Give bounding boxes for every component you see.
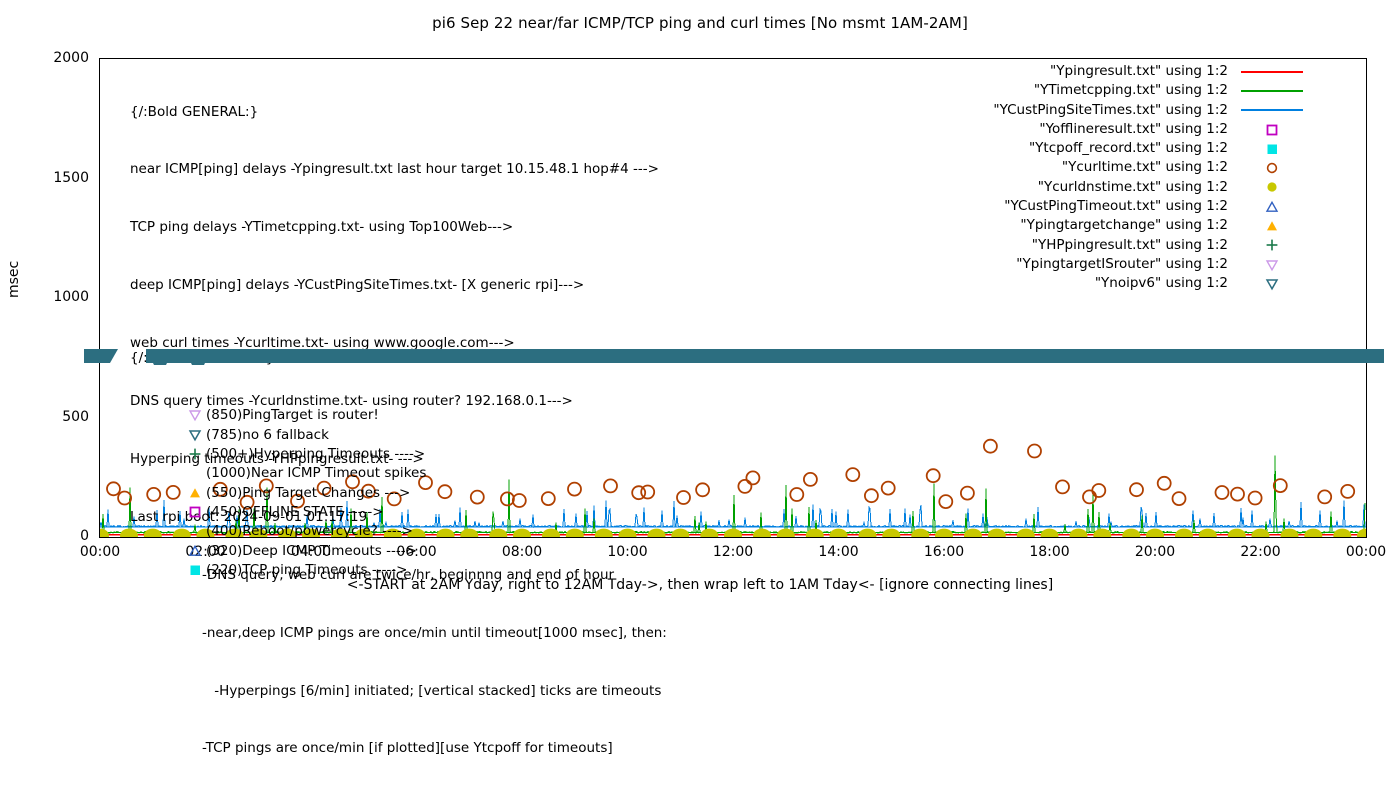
legend-line-swatch — [1241, 71, 1303, 73]
legend-key — [1236, 161, 1308, 175]
dns-time-marker — [1304, 529, 1322, 537]
dns-time-marker — [724, 529, 742, 537]
plus-green-icon — [188, 447, 202, 461]
dns-time-marker — [1228, 529, 1246, 537]
anomaly-label: (500+)Hyperping Timeouts ----> — [206, 446, 425, 462]
dns-time-marker — [700, 529, 718, 537]
legend-label: "Ycurltime.txt" using 1:2 — [1062, 158, 1228, 177]
general-line: deep ICMP[ping] delays -YCustPingSiteTim… — [130, 276, 667, 295]
dns-time-marker — [753, 529, 771, 537]
legend-label: "Ypingtargetchange" using 1:2 — [1020, 216, 1228, 235]
curl-time-marker — [804, 473, 817, 486]
legend-line-swatch — [1241, 109, 1303, 111]
legend-item[interactable]: "Ycurldnstime.txt" using 1:2 — [993, 178, 1308, 197]
y-tick-label: 0 — [19, 528, 89, 544]
curl-time-marker — [846, 468, 859, 481]
curl-time-marker — [1341, 485, 1354, 498]
square-magenta-icon — [188, 505, 202, 519]
legend-label: "YCustPingSiteTimes.txt" using 1:2 — [993, 101, 1228, 120]
curl-time-marker — [1056, 480, 1069, 493]
dns-time-marker — [1093, 529, 1111, 537]
dtriangle-violet-icon — [188, 408, 202, 422]
curl-time-marker — [961, 487, 974, 500]
dns-time-marker — [1175, 529, 1193, 537]
curl-time-marker — [1083, 490, 1096, 503]
legend-item[interactable]: "Ycurltime.txt" using 1:2 — [993, 158, 1308, 177]
general-note: -near,deep ICMP pings are once/min until… — [130, 624, 667, 643]
y-tick-label: 2000 — [19, 50, 89, 66]
dns-time-marker — [100, 529, 109, 537]
anomaly-row: (400)Reboot/powercycle? ----> — [130, 522, 426, 541]
legend-item[interactable]: "YpingtargetISrouter" using 1:2 — [993, 255, 1308, 274]
dns-time-marker — [1199, 529, 1217, 537]
legend-label: "Ypingresult.txt" using 1:2 — [1050, 62, 1228, 81]
anomaly-row: (500+)Hyperping Timeouts ----> — [130, 445, 426, 464]
legend-label: "Ytcpoff_record.txt" using 1:2 — [1029, 139, 1228, 158]
triangle-blue-icon — [188, 544, 202, 558]
y-tick-label: 1000 — [19, 289, 89, 305]
legend-item[interactable]: "Ypingresult.txt" using 1:2 — [993, 62, 1308, 81]
legend-item[interactable]: "YCustPingTimeout.txt" using 1:2 — [993, 197, 1308, 216]
curl-time-marker — [738, 480, 751, 493]
dns-time-marker — [1017, 529, 1035, 537]
general-line: near ICMP[ping] delays -Ypingresult.txt … — [130, 160, 667, 179]
legend-label: "Ycurldnstime.txt" using 1:2 — [1038, 178, 1228, 197]
curl-time-marker — [790, 488, 803, 501]
legend-key — [1236, 123, 1308, 137]
general-line: TCP ping delays -YTimetcpping.txt- using… — [130, 218, 667, 237]
curl-time-marker — [1216, 486, 1229, 499]
legend-key — [1236, 180, 1308, 194]
banner-notch — [84, 349, 118, 363]
legend: "Ypingresult.txt" using 1:2"YTimetcpping… — [993, 62, 1308, 294]
curl-time-marker — [865, 489, 878, 502]
legend-key — [1236, 238, 1308, 252]
x-tick-label: 20:00 — [1135, 544, 1175, 560]
triangle-orange-icon — [188, 486, 202, 500]
legend-label: "YCustPingTimeout.txt" using 1:2 — [1004, 197, 1228, 216]
square-cyan-icon — [188, 563, 202, 577]
legend-item[interactable]: "Ytcpoff_record.txt" using 1:2 — [993, 139, 1308, 158]
x-tick-label: 14:00 — [818, 544, 858, 560]
anomaly-row: (850)PingTarget is router! — [130, 406, 426, 425]
curl-time-marker — [1158, 477, 1171, 490]
x-tick-label: 22:00 — [1240, 544, 1280, 560]
legend-key — [1236, 142, 1308, 156]
legend-key — [1236, 277, 1308, 291]
dns-time-marker — [882, 529, 900, 537]
anomaly-label: (850)PingTarget is router! — [206, 407, 379, 423]
legend-key — [1236, 200, 1308, 214]
curl-time-marker — [1249, 492, 1262, 505]
anomaly-label: (450)OFFLINE STATE -----> — [206, 504, 384, 520]
legend-key — [1236, 90, 1308, 92]
banner-bar — [146, 349, 1384, 363]
anomaly-row: (320)Deep ICMP Timeouts ----> — [130, 542, 426, 561]
anomaly-label: (220)TCP ping Timeouts -----> — [206, 562, 408, 578]
legend-item[interactable]: "Ypingtargetchange" using 1:2 — [993, 216, 1308, 235]
x-tick-label: 18:00 — [1029, 544, 1069, 560]
general-note: -Hyperpings [6/min] initiated; [vertical… — [130, 682, 667, 701]
x-tick-label: 12:00 — [713, 544, 753, 560]
curl-time-marker — [746, 471, 759, 484]
dns-time-marker — [1122, 529, 1140, 537]
dns-time-marker — [1333, 529, 1351, 537]
legend-key — [1236, 258, 1308, 272]
legend-key — [1236, 71, 1308, 73]
anomaly-label: (1000)Near ICMP Timeout spikes — [206, 465, 426, 481]
y-tick-label: 1500 — [19, 170, 89, 186]
dns-time-marker — [1146, 529, 1164, 537]
curl-time-marker — [1092, 484, 1105, 497]
curl-time-marker — [1231, 488, 1244, 501]
x-tick-label: 00:00 — [80, 544, 120, 560]
legend-item[interactable]: "Ynoipv6" using 1:2 — [993, 274, 1308, 293]
general-note: -TCP pings are once/min [if plotted][use… — [130, 739, 667, 758]
anomaly-row: (450)OFFLINE STATE -----> — [130, 503, 426, 522]
legend-key — [1236, 109, 1308, 111]
dns-time-marker — [1070, 529, 1088, 537]
dns-time-marker — [830, 529, 848, 537]
curl-time-marker — [882, 482, 895, 495]
anomaly-row: (785)no 6 fallback — [130, 426, 426, 445]
curl-time-marker — [1130, 483, 1143, 496]
legend-item[interactable]: "Yofflineresult.txt" using 1:2 — [993, 120, 1308, 139]
general-header: {/:Bold GENERAL:} — [130, 103, 667, 122]
y-tick-label: 500 — [19, 409, 89, 425]
dtriangle-teal-icon — [188, 428, 202, 442]
curl-time-marker — [984, 440, 997, 453]
legend-label: "Ynoipv6" using 1:2 — [1095, 274, 1228, 293]
no-ipv6-banner — [84, 349, 1384, 366]
chart-title: pi6 Sep 22 near/far ICMP/TCP ping and cu… — [0, 14, 1400, 32]
curl-time-marker — [1028, 445, 1041, 458]
curl-time-marker — [107, 482, 120, 495]
x-tick-label: 16:00 — [924, 544, 964, 560]
legend-label: "Yofflineresult.txt" using 1:2 — [1039, 120, 1228, 139]
curl-time-marker — [677, 491, 690, 504]
legend-item[interactable]: "YTimetcpping.txt" using 1:2 — [993, 81, 1308, 100]
legend-label: "YHPpingresult.txt" using 1:2 — [1032, 236, 1228, 255]
anomaly-label: (320)Deep ICMP Timeouts ----> — [206, 543, 417, 559]
curl-time-marker — [1318, 490, 1331, 503]
x-tick-label: 00:00 — [1346, 544, 1386, 560]
legend-item[interactable]: "YCustPingSiteTimes.txt" using 1:2 — [993, 101, 1308, 120]
anomaly-row: (550)Ping Target Changes ---> — [130, 484, 426, 503]
anomaly-label: (400)Reboot/powercycle? ----> — [206, 523, 413, 539]
curl-time-marker — [927, 469, 940, 482]
anomaly-label: (550)Ping Target Changes ---> — [206, 485, 410, 501]
legend-line-swatch — [1241, 90, 1303, 92]
anomaly-label: (785)no 6 fallback — [206, 427, 329, 443]
curl-time-marker — [1173, 492, 1186, 505]
anomaly-row: (220)TCP ping Timeouts -----> — [130, 561, 426, 580]
legend-label: "YpingtargetISrouter" using 1:2 — [1016, 255, 1228, 274]
dns-time-marker — [859, 529, 877, 537]
curl-time-marker — [939, 495, 952, 508]
dns-time-marker — [935, 529, 953, 537]
dns-time-marker — [1357, 529, 1366, 537]
dns-time-marker — [671, 529, 689, 537]
legend-item[interactable]: "YHPpingresult.txt" using 1:2 — [993, 236, 1308, 255]
dns-time-marker — [988, 529, 1006, 537]
anomaly-row: (1000)Near ICMP Timeout spikes — [130, 464, 426, 483]
dns-time-marker — [1041, 529, 1059, 537]
dns-time-marker — [777, 529, 795, 537]
legend-label: "YTimetcpping.txt" using 1:2 — [1034, 81, 1228, 100]
curl-time-marker — [696, 483, 709, 496]
legend-key — [1236, 219, 1308, 233]
